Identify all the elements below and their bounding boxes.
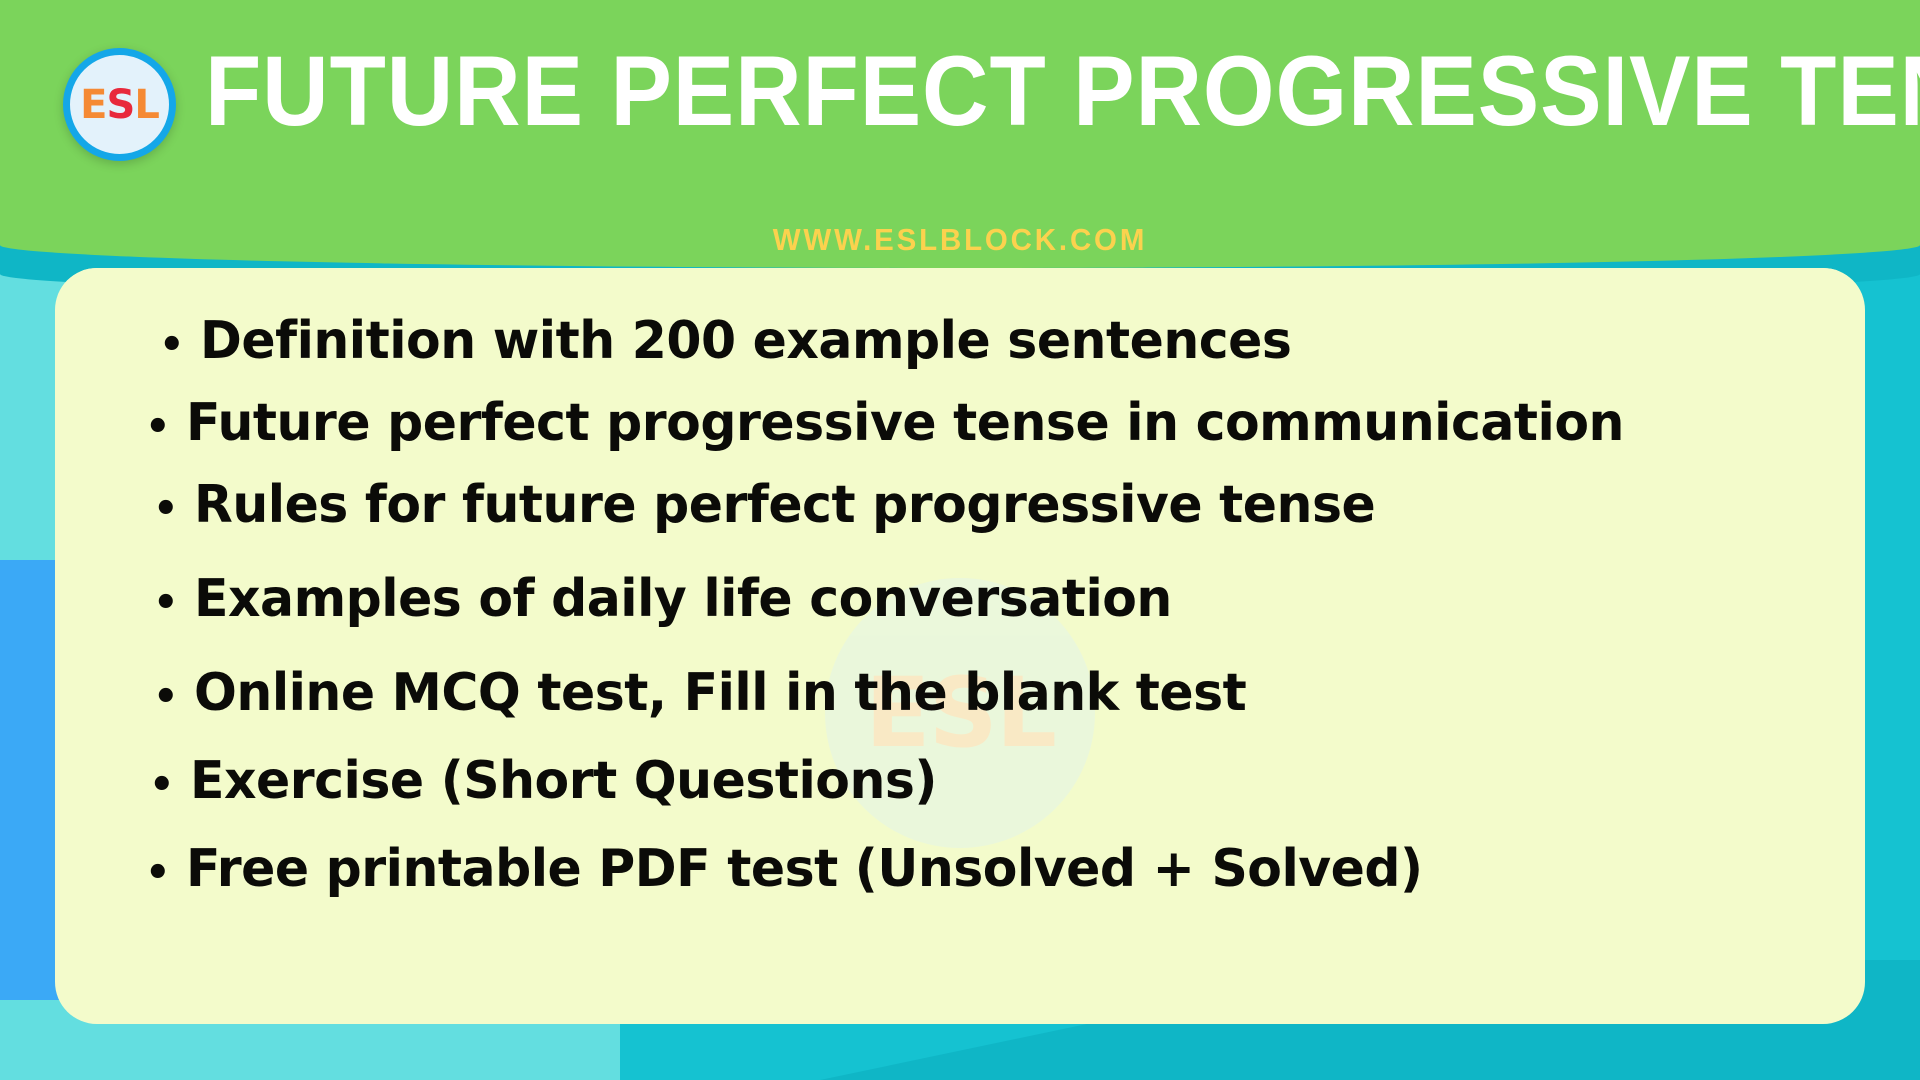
bullet-dot-icon: • — [153, 658, 178, 736]
esl-logo-text: ESL — [80, 85, 159, 125]
list-item: • Free printable PDF test (Unsolved + So… — [145, 830, 1825, 912]
bullet-dot-icon: • — [145, 388, 170, 466]
list-item-label: Future perfect progressive tense in comm… — [186, 384, 1624, 462]
logo-letter-s: S — [107, 82, 135, 128]
list-item: • Rules for future perfect progressive t… — [153, 466, 1825, 548]
infographic-stage: ESL FUTURE PERFECT PROGRESSIVE TENSE WWW… — [0, 0, 1920, 1080]
list-item: • Exercise (Short Questions) — [149, 742, 1825, 824]
esl-logo: ESL — [63, 48, 176, 161]
list-item-label: Exercise (Short Questions) — [190, 742, 937, 820]
bullet-dot-icon: • — [153, 470, 178, 548]
list-item-label: Rules for future perfect progressive ten… — [194, 466, 1375, 544]
list-item: • Examples of daily life conversation — [153, 560, 1825, 642]
logo-letter-l: L — [134, 82, 159, 128]
content-card: ESL • Definition with 200 example senten… — [55, 268, 1865, 1024]
list-item: • Online MCQ test, Fill in the blank tes… — [153, 654, 1825, 736]
list-item: • Future perfect progressive tense in co… — [145, 384, 1825, 466]
bullet-dot-icon: • — [149, 746, 174, 824]
list-item-label: Definition with 200 example sentences — [200, 302, 1291, 380]
list-item-label: Online MCQ test, Fill in the blank test — [194, 654, 1246, 732]
website-url: WWW.ESLBLOCK.COM — [48, 222, 1872, 258]
bullet-dot-icon: • — [153, 564, 178, 642]
feature-list: • Definition with 200 example sentences … — [145, 302, 1825, 912]
page-title: FUTURE PERFECT PROGRESSIVE TENSE — [205, 36, 1730, 146]
list-item-label: Free printable PDF test (Unsolved + Solv… — [186, 830, 1423, 908]
bullet-dot-icon: • — [159, 306, 184, 384]
list-item-label: Examples of daily life conversation — [194, 560, 1172, 638]
list-item: • Definition with 200 example sentences — [159, 302, 1825, 384]
bullet-dot-icon: • — [145, 834, 170, 912]
logo-letter-e: E — [80, 82, 106, 128]
